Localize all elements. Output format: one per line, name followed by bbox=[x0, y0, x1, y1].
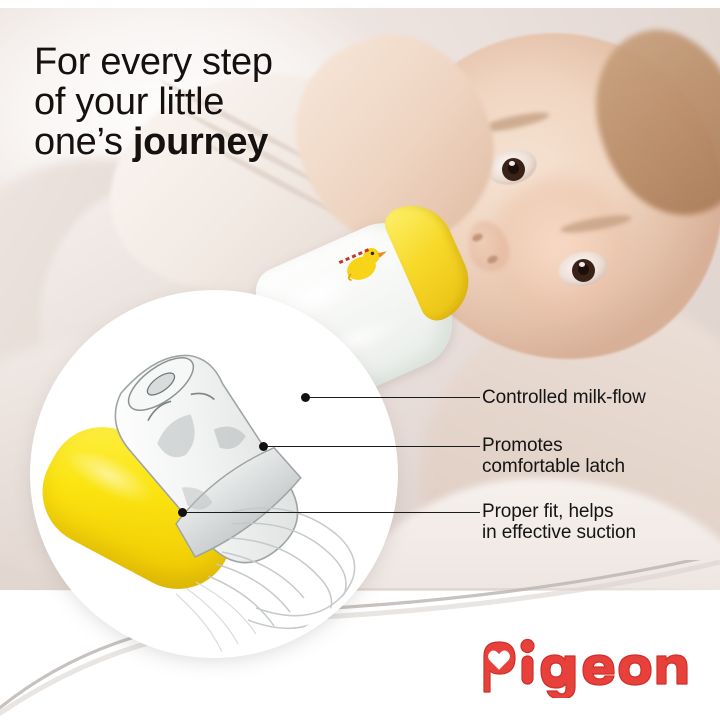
advertisement-banner: For every step of your little one’s jour… bbox=[0, 0, 720, 720]
feature-2-line-1: Promotes bbox=[482, 435, 625, 456]
feature-3-line-1: Proper fit, helps bbox=[482, 501, 636, 522]
pigeon-logo bbox=[478, 636, 688, 698]
headline-line-3-bold: journey bbox=[133, 121, 268, 163]
feature-callout-controlled-milk-flow: Controlled milk-flow bbox=[482, 387, 646, 408]
leader-line-1 bbox=[305, 397, 480, 398]
feature-2-line-2: comfortable latch bbox=[482, 456, 625, 477]
feature-callouts: Controlled milk-flow Promotes comfortabl… bbox=[482, 0, 720, 660]
top-white-strip bbox=[0, 0, 720, 8]
page-title: For every step of your little one’s jour… bbox=[34, 42, 273, 162]
feature-3-line-2: in effective suction bbox=[482, 522, 636, 543]
leader-line-2 bbox=[263, 446, 480, 447]
magnifier-circle bbox=[36, 296, 392, 652]
feature-callout-promotes-comfortable-latch: Promotes comfortable latch bbox=[482, 435, 625, 477]
headline-line-1: For every step bbox=[34, 42, 273, 82]
feature-1-line-1: Controlled milk-flow bbox=[482, 387, 646, 408]
leader-dot-3 bbox=[178, 508, 187, 517]
magnifier-content bbox=[36, 296, 392, 652]
feature-callout-proper-fit: Proper fit, helps in effective suction bbox=[482, 501, 636, 543]
leader-dot-1 bbox=[301, 393, 310, 402]
headline-line-3-regular: one’s bbox=[34, 121, 133, 163]
headline-line-3: one’s journey bbox=[34, 122, 273, 162]
headline-line-2: of your little bbox=[34, 82, 273, 122]
leader-line-3 bbox=[182, 512, 480, 513]
nipple-cutaway-illustration bbox=[36, 296, 392, 652]
leader-dot-2 bbox=[259, 442, 268, 451]
